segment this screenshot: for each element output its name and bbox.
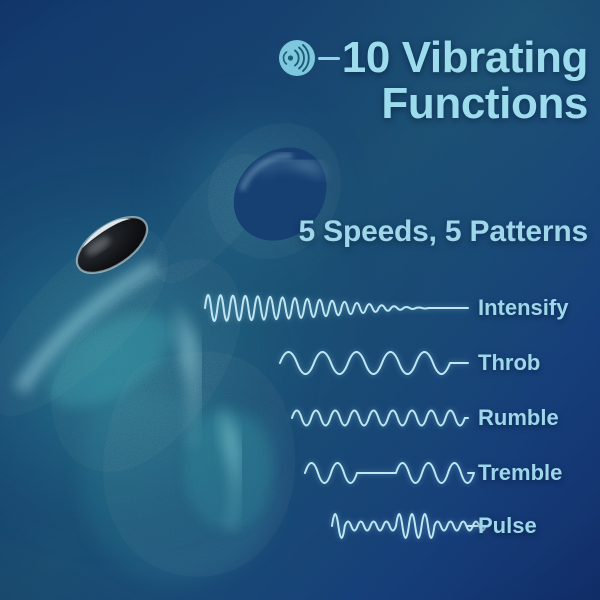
headline-line2: Functions <box>236 82 588 127</box>
pattern-label-rumble: Rumble <box>478 405 559 431</box>
headline-block: 10 Vibrating Functions <box>236 36 588 127</box>
headline-line1-row: 10 Vibrating <box>236 36 588 81</box>
vibration-waves-icon <box>278 39 316 77</box>
pattern-label-throb: Throb <box>478 350 540 376</box>
pattern-label-pulse: Pulse <box>478 513 537 539</box>
product-image <box>0 60 360 600</box>
pattern-label-tremble: Tremble <box>478 460 562 486</box>
subheadline: 5 Speeds, 5 Patterns <box>218 215 588 249</box>
headline-line1: 10 Vibrating <box>342 36 588 81</box>
pattern-label-intensify: Intensify <box>478 295 568 321</box>
product-feature-graphic: 10 Vibrating Functions 5 Speeds, 5 Patte… <box>0 0 600 600</box>
icon-connector-line <box>318 57 340 60</box>
